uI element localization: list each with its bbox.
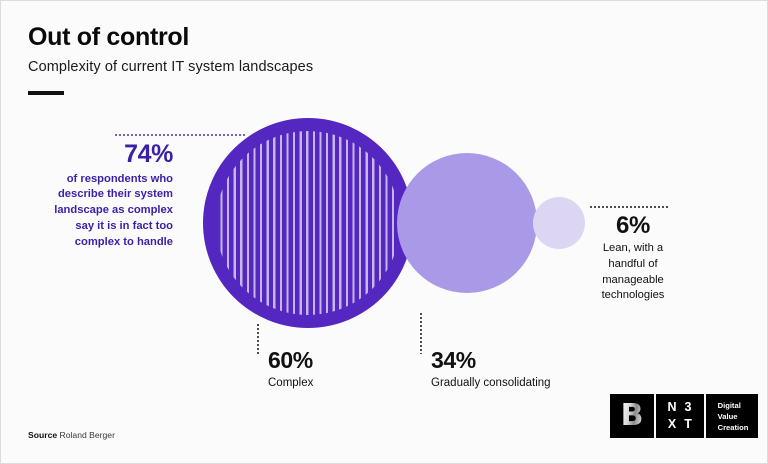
- source-note: Source Roland Berger: [28, 430, 115, 440]
- logo-tagline-line-3: Creation: [718, 422, 749, 433]
- callout-74-percent: 74% of respondents who describe their sy…: [41, 141, 173, 251]
- callout-consolidating: 34% Gradually consolidating: [431, 348, 551, 391]
- leader-line-consolidating: [420, 312, 422, 354]
- bubble-complex-striped-overlay: [216, 131, 400, 315]
- bubble-lean: [533, 197, 585, 249]
- logo-n3xt-tile: N 3 X T: [656, 394, 704, 438]
- logo-b-mark-icon: B: [610, 394, 654, 438]
- brand-logo: B N 3 X T Digital Value Creation: [610, 394, 758, 438]
- logo-tagline-line-2: Value: [718, 411, 749, 422]
- logo-tagline: Digital Value Creation: [716, 400, 749, 433]
- leader-line-complex: [257, 323, 259, 354]
- leader-line-74: [114, 134, 247, 136]
- logo-letter-n: N: [667, 400, 676, 416]
- callout-consolidating-value: 34%: [431, 348, 551, 373]
- logo-tagline-line-1: Digital: [718, 400, 749, 411]
- page-subtitle: Complexity of current IT system landscap…: [28, 59, 313, 75]
- page-title: Out of control: [28, 23, 189, 52]
- logo-letter-t: T: [684, 417, 693, 433]
- callout-lean-label: Lean, with a handful of manageable techn…: [589, 241, 677, 304]
- logo-b-letter: B: [621, 401, 644, 431]
- callout-consolidating-label: Gradually consolidating: [431, 376, 551, 391]
- callout-74-value: 74%: [41, 141, 173, 169]
- callout-lean-value: 6%: [589, 213, 677, 239]
- title-rule: [28, 91, 64, 95]
- source-value: Roland Berger: [60, 430, 115, 440]
- logo-tagline-tile: Digital Value Creation: [706, 394, 758, 438]
- logo-letter-x: X: [667, 417, 676, 433]
- callout-complex-value: 60%: [268, 348, 313, 373]
- callout-complex-label: Complex: [268, 376, 313, 391]
- callout-lean: 6% Lean, with a handful of manageable te…: [589, 213, 677, 304]
- leader-line-lean: [589, 206, 669, 208]
- source-label: Source: [28, 430, 57, 440]
- infographic-slide: Out of control Complexity of current IT …: [0, 0, 768, 464]
- logo-n3xt-grid: N 3 X T: [667, 400, 692, 432]
- logo-letter-3: 3: [684, 400, 693, 416]
- bubble-gradually-consolidating: [397, 153, 537, 293]
- callout-74-description: of respondents who describe their system…: [41, 172, 173, 252]
- callout-complex: 60% Complex: [268, 348, 313, 391]
